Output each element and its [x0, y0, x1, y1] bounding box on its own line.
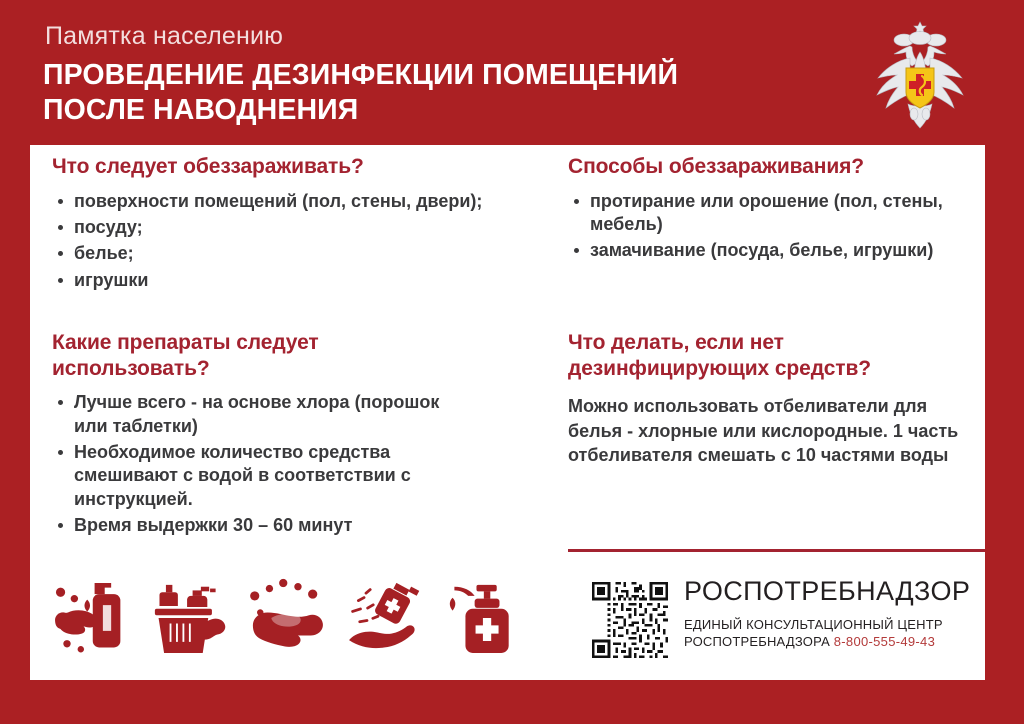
organization-name: РОСПОТРЕБНАДЗОР — [684, 578, 970, 605]
list-item: протирание или орошение (пол, стены, меб… — [568, 190, 968, 237]
divider — [568, 549, 985, 552]
section-methods: Способы обеззараживания? протирание или … — [568, 154, 968, 266]
section-heading: Способы обеззараживания? — [568, 154, 968, 180]
list-item: игрушки — [52, 269, 502, 292]
brand-text: РОСПОТРЕБНАДЗОР ЕДИНЫЙ КОНСУЛЬТАЦИОННЫЙ … — [684, 578, 970, 651]
section-heading: Что делать, если нет дезинфицирующих сре… — [568, 330, 968, 381]
page-title: ПРОВЕДЕНИЕ ДЕЗИНФЕКЦИИ ПОМЕЩЕНИЙ ПОСЛЕ Н… — [43, 58, 843, 128]
hygiene-icon-row — [44, 565, 514, 670]
list-item: белье; — [52, 242, 502, 265]
list-item: поверхности помещений (пол, стены, двери… — [52, 190, 502, 213]
which-agents-list: Лучше всего - на основе хлора (порошок и… — [52, 391, 452, 537]
center-line-2: РОСПОТРЕБНАДЗОРА — [684, 634, 830, 649]
section-paragraph: Можно использовать отбеливатели для бель… — [568, 394, 968, 467]
rubbing-hands-icon — [240, 572, 332, 664]
list-item: замачивание (посуда, белье, игрушки) — [568, 239, 968, 262]
methods-list: протирание или орошение (пол, стены, меб… — [568, 190, 968, 263]
section-no-disinfectant: Что делать, если нет дезинфицирующих сре… — [568, 330, 968, 468]
section-heading: Какие препараты следует использовать? — [52, 330, 452, 381]
list-item: Необходимое количество средства смешиваю… — [52, 441, 452, 511]
center-line-1: ЕДИНЫЙ КОНСУЛЬТАЦИОННЫЙ ЦЕНТР — [684, 617, 943, 632]
bucket-with-cleaning-supplies-icon — [142, 572, 234, 664]
content-panel: Что следует обеззараживать? поверхности … — [30, 145, 985, 680]
handwashing-with-soap-icon — [44, 572, 136, 664]
poster-header: Памятка населению ПРОВЕДЕНИЕ ДЕЗИНФЕКЦИИ… — [0, 0, 1024, 145]
header-subtitle: Памятка населению — [45, 22, 283, 51]
section-which-agents: Какие препараты следует использовать? Лу… — [52, 330, 452, 541]
list-item: посуду; — [52, 216, 502, 239]
section-what-to-disinfect: Что следует обеззараживать? поверхности … — [52, 154, 502, 295]
page-title-line2: ПОСЛЕ НАВОДНЕНИЯ — [43, 93, 843, 128]
hotline-phone[interactable]: 8-800-555-49-43 — [834, 634, 935, 649]
list-item: Время выдержки 30 – 60 минут — [52, 514, 452, 537]
qr-code-icon[interactable] — [592, 582, 668, 658]
branding-block: РОСПОТРЕБНАДЗОР ЕДИНЫЙ КОНСУЛЬТАЦИОННЫЙ … — [592, 578, 987, 664]
spray-bottle-on-hand-icon — [338, 572, 430, 664]
list-item: Лучше всего - на основе хлора (порошок и… — [52, 391, 452, 438]
page-title-line1: ПРОВЕДЕНИЕ ДЕЗИНФЕКЦИИ ПОМЕЩЕНИЙ — [43, 59, 678, 91]
consultation-center-info: ЕДИНЫЙ КОНСУЛЬТАЦИОННЫЙ ЦЕНТР РОСПОТРЕБН… — [684, 616, 970, 651]
section-heading: Что следует обеззараживать? — [52, 154, 502, 180]
sanitizer-pump-bottle-icon — [436, 572, 528, 664]
what-to-disinfect-list: поверхности помещений (пол, стены, двери… — [52, 190, 502, 293]
rospotrebnadzor-eagle-emblem-icon — [866, 18, 974, 136]
